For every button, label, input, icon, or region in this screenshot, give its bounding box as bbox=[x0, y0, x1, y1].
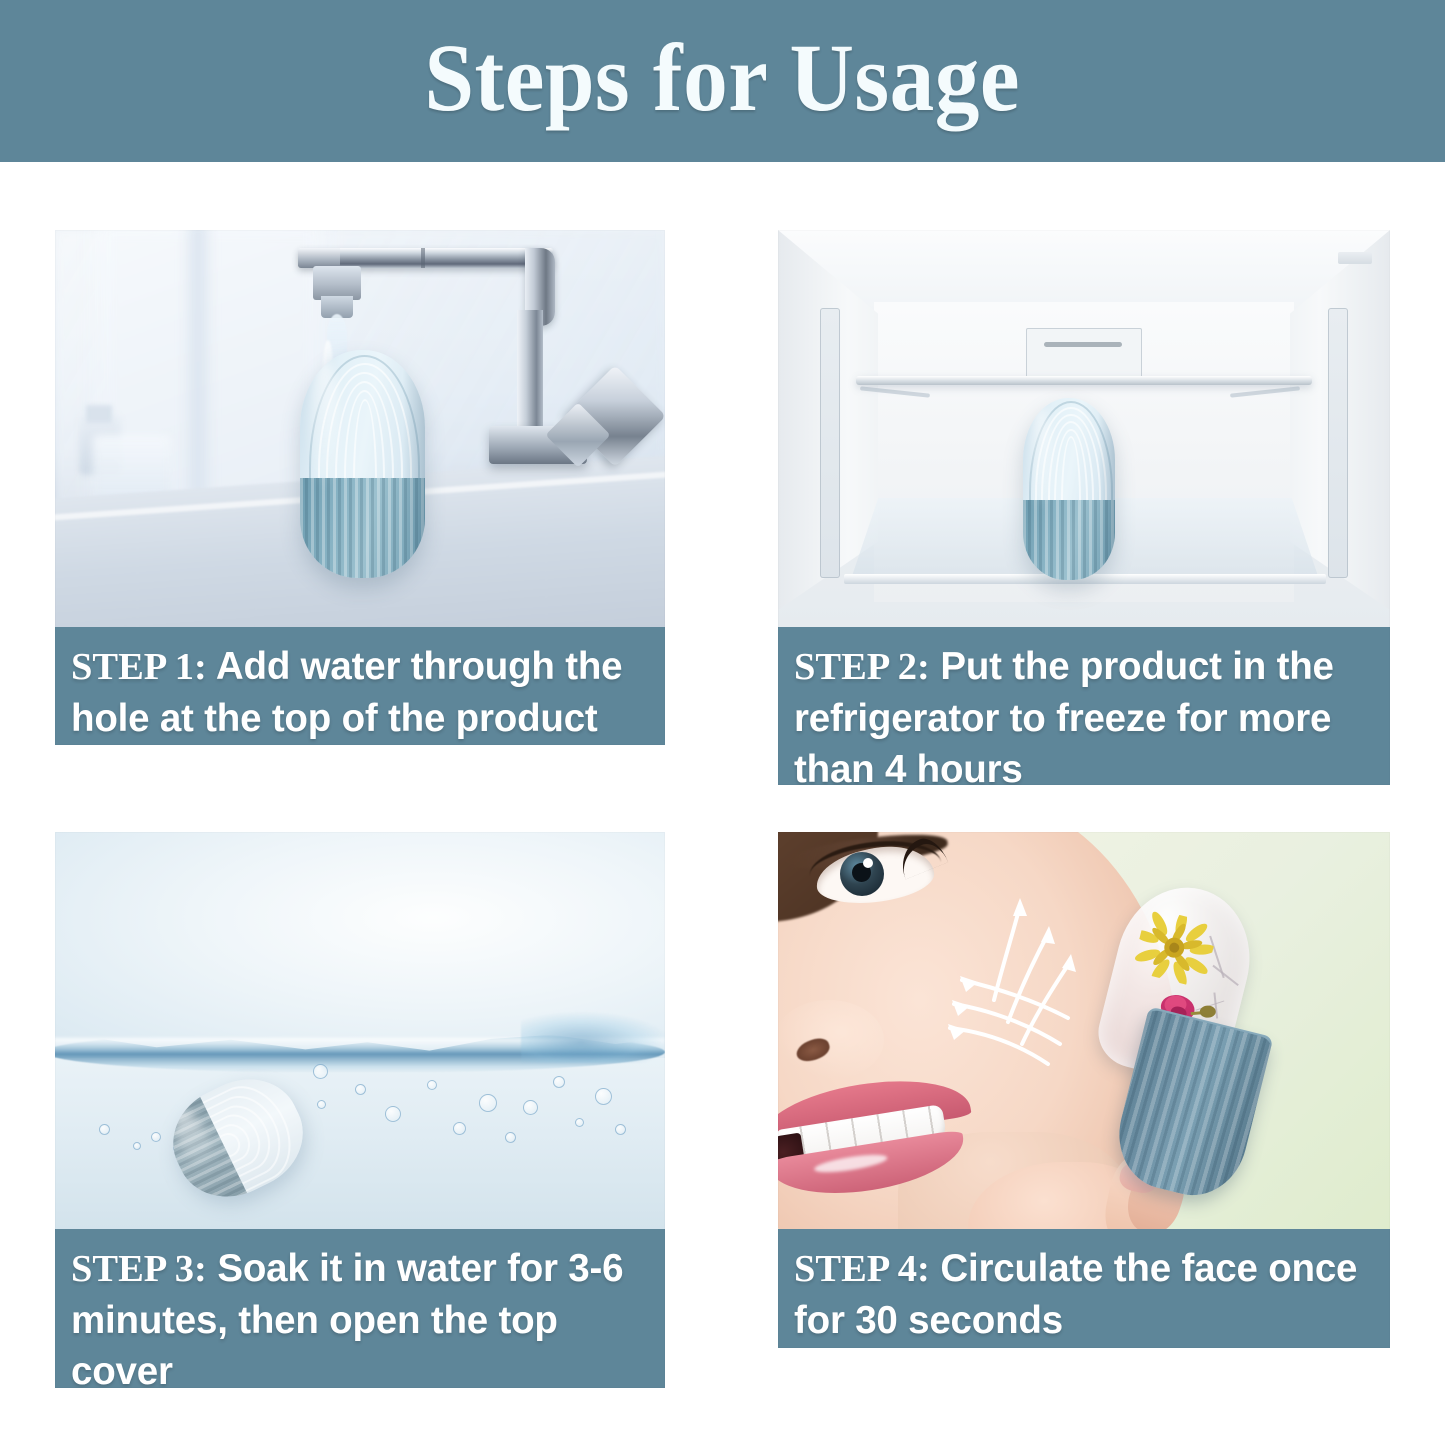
step-card-2: STEP 2: Put the product in the refrigera… bbox=[778, 230, 1390, 785]
step-3-caption: STEP 3: Soak it in water for 3-6 minutes… bbox=[55, 1229, 665, 1388]
bubble bbox=[615, 1124, 626, 1135]
bubble bbox=[151, 1132, 161, 1142]
bubble bbox=[355, 1084, 366, 1095]
step-4-caption: STEP 4: Circulate the face once for 30 s… bbox=[778, 1229, 1390, 1348]
bubble bbox=[479, 1094, 497, 1112]
bubble bbox=[575, 1118, 584, 1127]
step-1-caption: STEP 1: Add water through the hole at th… bbox=[55, 627, 665, 745]
bubble bbox=[317, 1100, 326, 1109]
fridge-vent-panel bbox=[1026, 328, 1142, 380]
ice-roller-product bbox=[1023, 398, 1115, 580]
step-card-3: STEP 3: Soak it in water for 3-6 minutes… bbox=[55, 832, 665, 1388]
faucet-arm-seam bbox=[421, 248, 425, 268]
faucet-spout bbox=[313, 266, 361, 300]
bubble bbox=[595, 1088, 612, 1105]
product-shading bbox=[1098, 398, 1115, 580]
step-1-caption-text: STEP 1: Add water through the hole at th… bbox=[71, 641, 649, 744]
step-4-label: STEP 4: bbox=[794, 1248, 930, 1290]
bubble bbox=[133, 1142, 141, 1150]
step-1-label: STEP 1: bbox=[71, 646, 207, 688]
step-3-photo bbox=[55, 832, 665, 1229]
bubble bbox=[505, 1132, 516, 1143]
step-card-1: STEP 1: Add water through the hole at th… bbox=[55, 230, 665, 745]
water-splash bbox=[521, 1011, 665, 1063]
page-title: Steps for Usage bbox=[425, 30, 1021, 132]
ice-crack bbox=[1213, 965, 1239, 986]
step-4-caption-text: STEP 4: Circulate the face once for 30 s… bbox=[794, 1243, 1374, 1346]
step-1-photo bbox=[55, 230, 665, 627]
bottle-cap-blur bbox=[85, 405, 113, 423]
faucet-column bbox=[517, 310, 543, 436]
fridge-corner-vent bbox=[1338, 252, 1372, 264]
step-2-label: STEP 2: bbox=[794, 646, 930, 688]
product-body bbox=[1023, 398, 1115, 580]
water-scene bbox=[55, 832, 665, 1229]
product-shading bbox=[403, 350, 426, 578]
product-highlight bbox=[310, 359, 338, 491]
refrigerator-scene bbox=[778, 230, 1390, 627]
fridge-upper-shelf bbox=[856, 376, 1312, 385]
product-highlight bbox=[1030, 405, 1050, 511]
ice-roller-product bbox=[300, 350, 425, 578]
header-banner: Steps for Usage bbox=[0, 0, 1445, 162]
bubble bbox=[453, 1122, 466, 1135]
nose bbox=[778, 1000, 884, 1080]
step-3-caption-text: STEP 3: Soak it in water for 3-6 minutes… bbox=[71, 1243, 649, 1388]
step-4-photo bbox=[778, 832, 1390, 1229]
fridge-shelf-rail-right bbox=[1328, 308, 1348, 578]
step-2-caption: STEP 2: Put the product in the refrigera… bbox=[778, 627, 1390, 785]
bubble bbox=[523, 1100, 538, 1115]
bathroom-scene bbox=[55, 230, 665, 627]
fridge-shelf-rail-left bbox=[820, 308, 840, 578]
bubble bbox=[553, 1076, 565, 1088]
bubble bbox=[99, 1124, 110, 1135]
step-card-4: STEP 4: Circulate the face once for 30 s… bbox=[778, 832, 1390, 1348]
step-2-photo bbox=[778, 230, 1390, 627]
step-2-caption-text: STEP 2: Put the product in the refrigera… bbox=[794, 641, 1374, 785]
bubble bbox=[427, 1080, 437, 1090]
bubble bbox=[313, 1064, 328, 1079]
product-body bbox=[300, 350, 425, 578]
fridge-vent-slot bbox=[1044, 342, 1122, 347]
step-3-label: STEP 3: bbox=[71, 1248, 207, 1290]
yellow-daisy-icon bbox=[1131, 907, 1219, 989]
faucet-arm-joint bbox=[298, 248, 340, 268]
face-scene bbox=[778, 832, 1390, 1229]
bubble bbox=[385, 1106, 401, 1122]
